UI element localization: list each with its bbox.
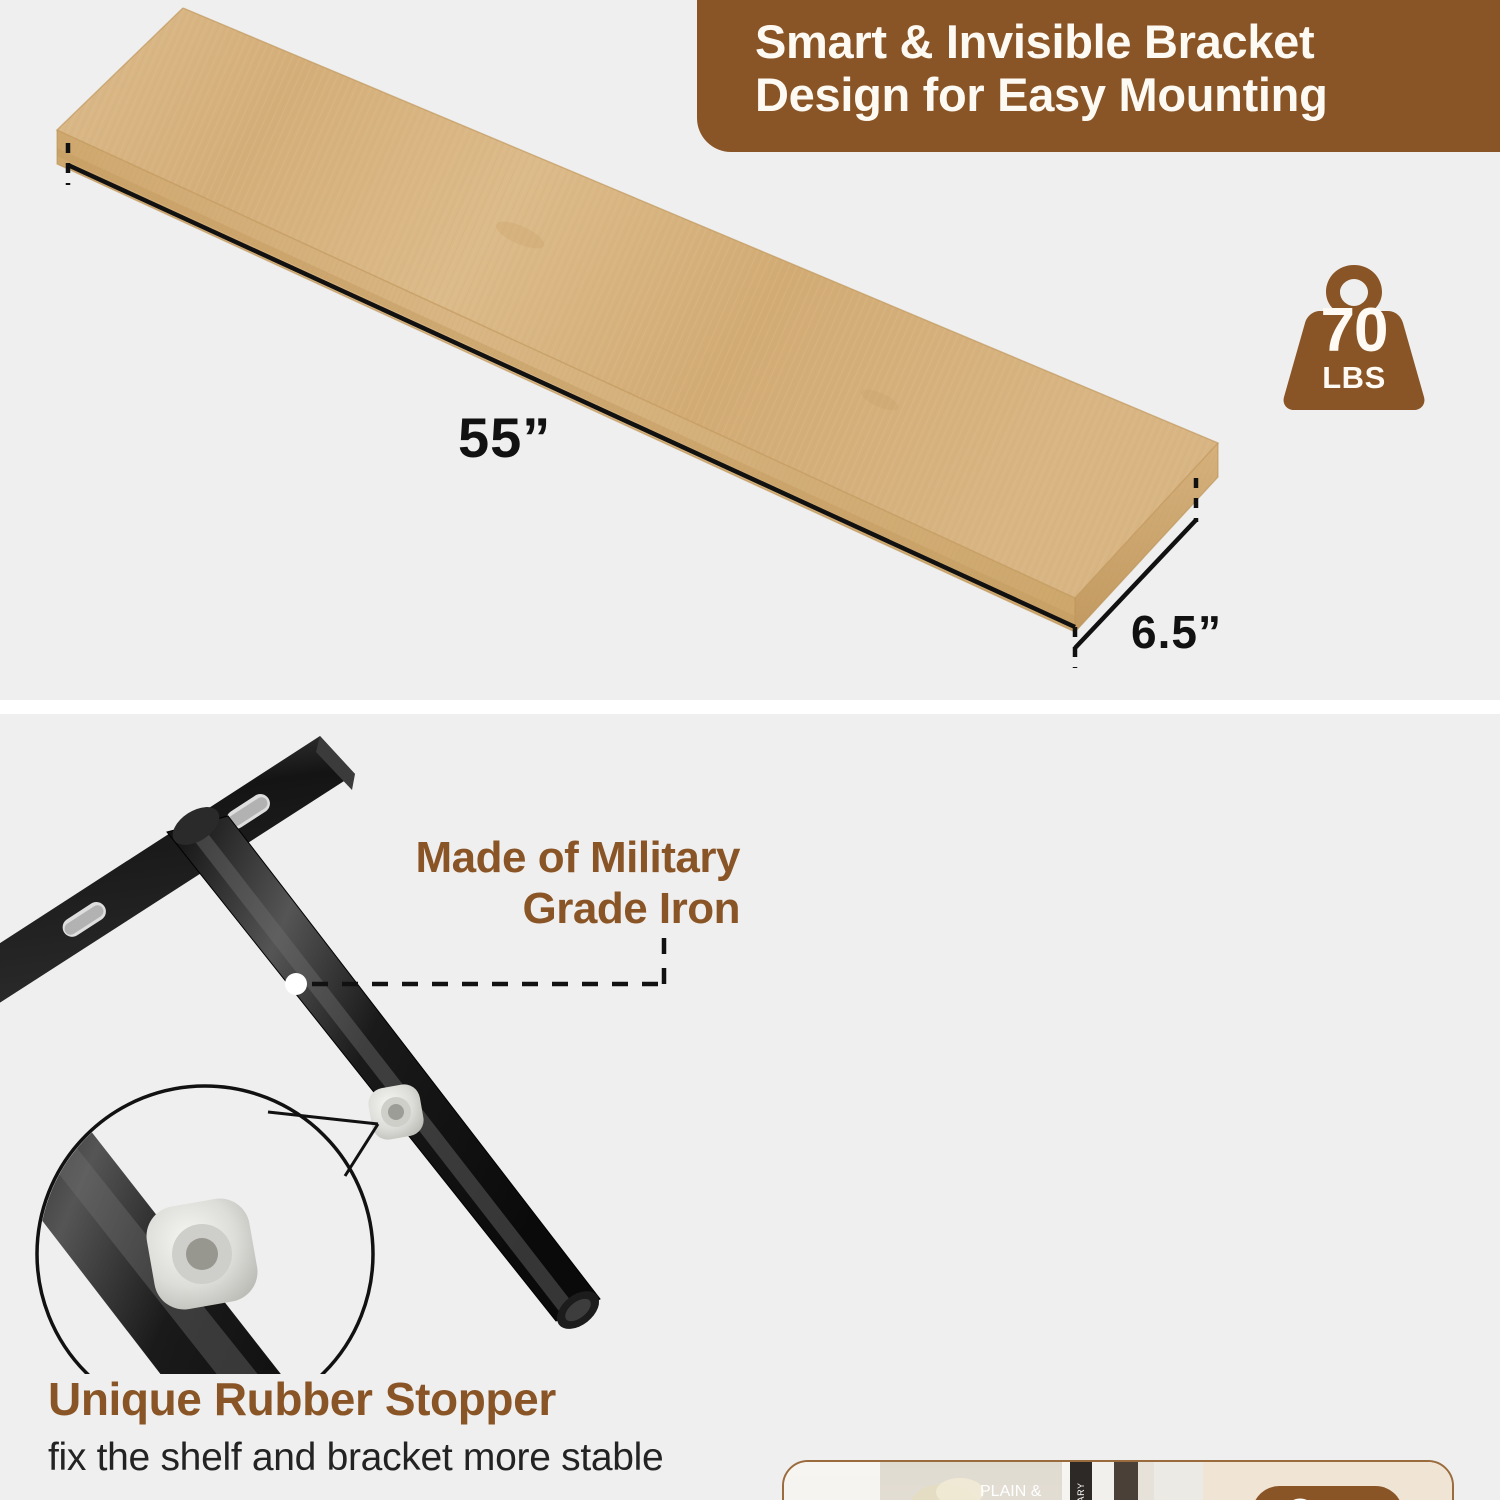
ours-badge: Ours bbox=[1252, 1486, 1403, 1500]
header-banner: Smart & Invisible Bracket Design for Eas… bbox=[697, 0, 1500, 152]
ours-info-panel: Ours DEEPER & THICKER Create more storag… bbox=[1203, 1462, 1452, 1500]
military-iron-title-line1: Made of Military bbox=[330, 832, 740, 883]
header-line-2: Design for Easy Mounting bbox=[755, 69, 1474, 122]
weight-unit: LBS bbox=[1280, 361, 1428, 395]
ours-spine-1: NO REST FOR THE WEARY bbox=[1076, 1482, 1086, 1500]
infographic-stage: 55” 6.5” 70 LBS Smart & Invisible Bracke… bbox=[0, 0, 1500, 1500]
military-iron-title-line2: Grade Iron bbox=[330, 883, 740, 934]
shelf-depth-label: 6.5” bbox=[1131, 605, 1222, 659]
weight-value: 70 bbox=[1280, 302, 1428, 361]
rubber-stopper-title: Unique Rubber Stopper bbox=[48, 1372, 748, 1426]
shelf-length-label: 55” bbox=[458, 405, 551, 470]
magnifier-circle bbox=[0, 1066, 420, 1374]
ours-cover-line1: PLAIN & bbox=[980, 1483, 1042, 1500]
top-product-section: 55” 6.5” 70 LBS Smart & Invisible Bracke… bbox=[0, 0, 1500, 700]
weight-label-group: 70 LBS bbox=[1280, 302, 1428, 395]
weight-capacity-badge: 70 LBS bbox=[1280, 262, 1428, 412]
bracket-illustration bbox=[0, 714, 760, 1374]
comparison-card-ours: PLAIN & SIMPLE KIM BRENNEMAN NO REST FOR… bbox=[782, 1460, 1454, 1500]
section-divider bbox=[0, 700, 1500, 714]
rubber-stopper-subtitle: fix the shelf and bracket more stable bbox=[48, 1436, 768, 1480]
military-iron-title: Made of Military Grade Iron bbox=[330, 832, 740, 934]
ours-photo: PLAIN & SIMPLE KIM BRENNEMAN NO REST FOR… bbox=[784, 1462, 1203, 1500]
header-line-1: Smart & Invisible Bracket bbox=[755, 15, 1314, 68]
